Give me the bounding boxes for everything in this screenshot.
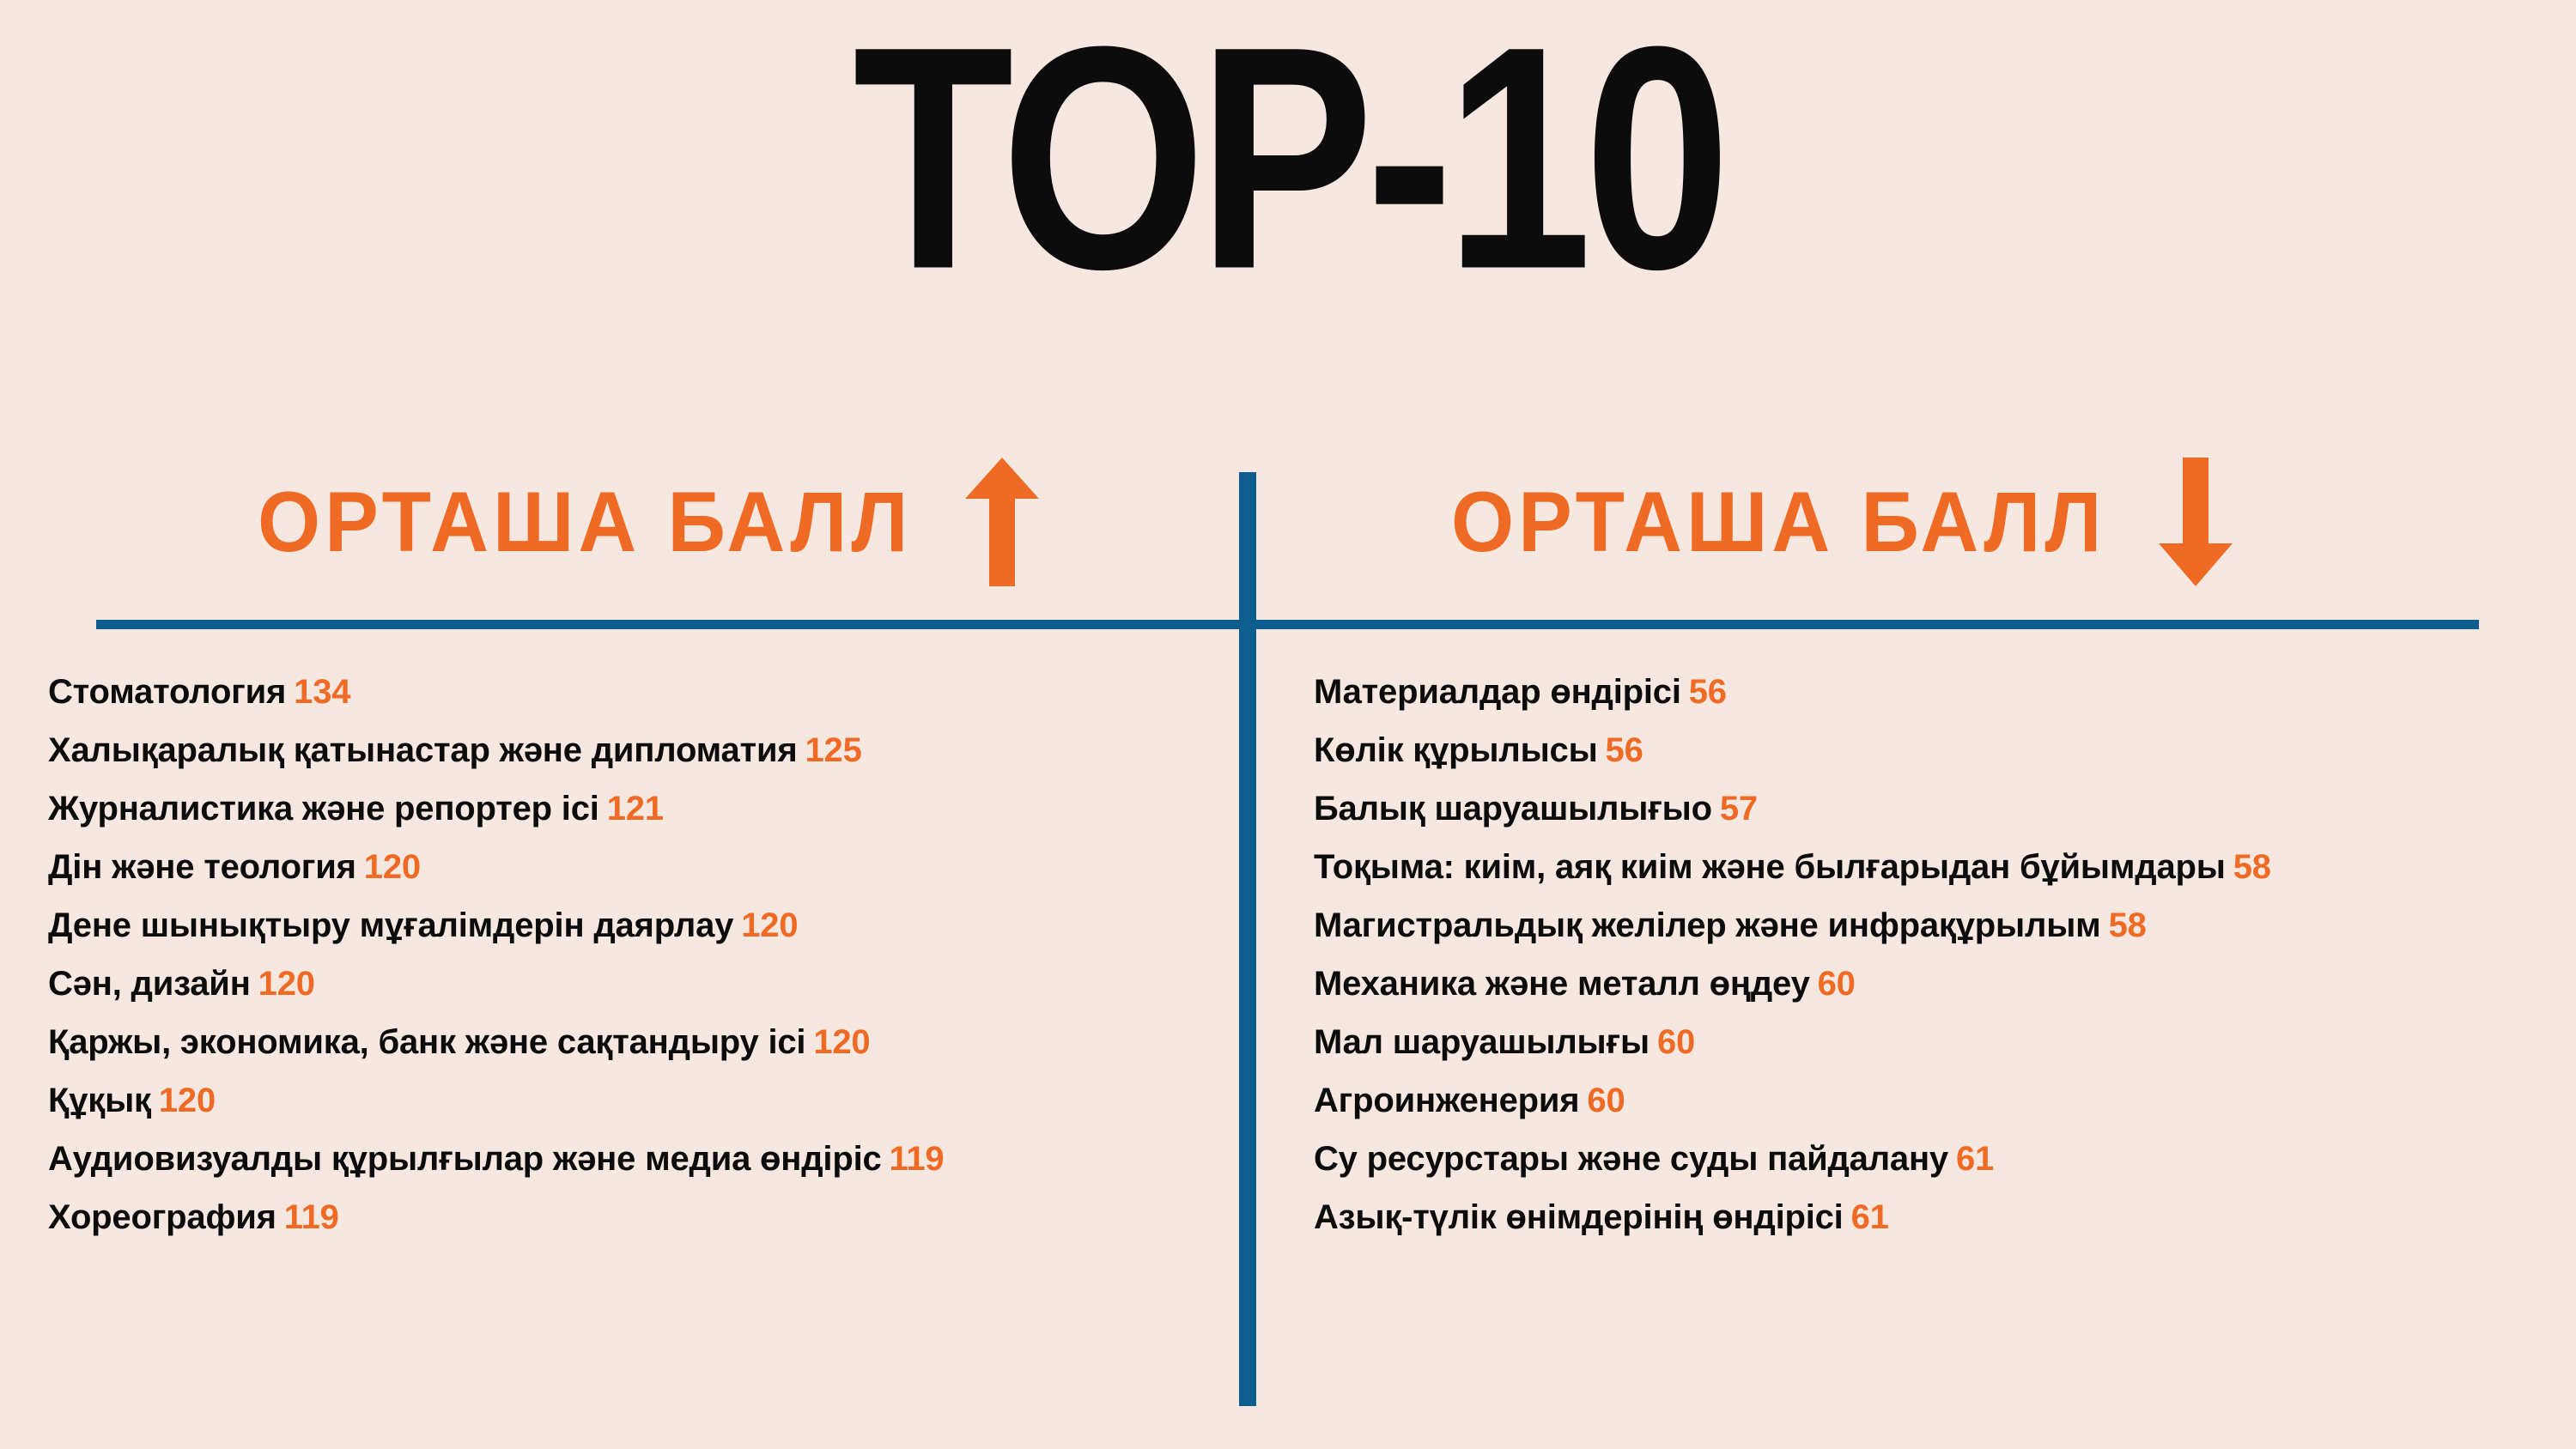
list-item-score: 120: [364, 848, 421, 886]
arrow-up-head: [965, 458, 1039, 499]
list-item-label: Құқық: [48, 1082, 151, 1119]
list-item-score: 121: [607, 790, 664, 828]
list-item-score: 60: [1587, 1082, 1625, 1119]
arrow-down-shaft: [2183, 458, 2208, 549]
arrow-up-icon: [965, 458, 1039, 586]
list-item-label: Мал шаруашылығы: [1314, 1023, 1649, 1061]
list-item-score: 119: [890, 1140, 945, 1178]
arrow-up-shaft: [989, 495, 1015, 586]
list-item-label: Қаржы, экономика, банк және сақтандыру і…: [48, 1023, 805, 1061]
list-item: Дін және теология120: [48, 838, 1224, 896]
column-header-right: ОРТАША БАЛЛ: [1451, 453, 2233, 591]
list-item: Сән, дизайн120: [48, 955, 1224, 1013]
list-item-score: 120: [813, 1023, 870, 1061]
list-item-score: 120: [159, 1082, 216, 1119]
list-item-score: 120: [741, 906, 798, 944]
list-item-label: Дене шынықтыру мұғалімдерін даярлау: [48, 906, 733, 944]
list-item-label: Механика және металл өңдеу: [1314, 965, 1810, 1003]
list-item-label: Стоматология: [48, 673, 286, 711]
page-title-container: TOP-10: [0, 7, 2576, 276]
list-item-label: Тоқыма: киім, аяқ киім және былғарыдан б…: [1314, 848, 2226, 886]
list-item-score: 125: [805, 731, 861, 769]
list-item: Халықаралық қатынастар және дипломатия12…: [48, 721, 1224, 779]
list-item-label: Көлік құрылысы: [1314, 731, 1598, 769]
list-item: Механика және металл өңдеу60: [1314, 955, 2559, 1013]
list-item-label: Азық-түлік өнімдерінің өндірісі: [1314, 1198, 1844, 1236]
list-item: Құқық120: [48, 1071, 1224, 1130]
list-item-label: Сән, дизайн: [48, 965, 251, 1003]
list-item-label: Агроинженерия: [1314, 1082, 1579, 1119]
list-item: Қаржы, экономика, банк және сақтандыру і…: [48, 1013, 1224, 1071]
arrow-down-icon: [2159, 458, 2233, 586]
list-item-label: Материалдар өндірісі: [1314, 673, 1681, 711]
column-header-right-label: ОРТАША БАЛЛ: [1451, 473, 2105, 571]
list-item: Хореография119: [48, 1188, 1224, 1246]
list-right: Материалдар өндірісі56 Көлік құрылысы56 …: [1314, 663, 2559, 1246]
list-item-label: Халықаралық қатынастар және дипломатия: [48, 731, 797, 769]
list-item-label: Балық шаруашылығыо: [1314, 790, 1712, 828]
list-item: Аудиовизуалды құрылғылар және медиа өнді…: [48, 1130, 1224, 1188]
list-item: Стоматология134: [48, 663, 1224, 721]
list-item: Су ресурстары және суды пайдалану61: [1314, 1130, 2559, 1188]
list-item-score: 120: [258, 965, 315, 1003]
list-item-score: 119: [284, 1198, 339, 1236]
list-item-score: 57: [1720, 790, 1758, 828]
list-item-score: 60: [1818, 965, 1856, 1003]
list-item-label: Хореография: [48, 1198, 276, 1236]
list-item-score: 58: [2233, 848, 2271, 886]
list-item: Агроинженерия60: [1314, 1071, 2559, 1130]
list-item-label: Аудиовизуалды құрылғылар және медиа өнді…: [48, 1140, 882, 1178]
list-item-label: Дін және теология: [48, 848, 356, 886]
list-item-score: 61: [1956, 1140, 1994, 1178]
list-item-score: 61: [1851, 1198, 1889, 1236]
list-item: Дене шынықтыру мұғалімдерін даярлау120: [48, 896, 1224, 955]
list-item-score: 56: [1606, 731, 1643, 769]
list-left: Стоматология134 Халықаралық қатынастар ж…: [48, 663, 1224, 1246]
list-item: Магистральдық желілер және инфрақұрылым5…: [1314, 896, 2559, 955]
list-item: Балық шаруашылығыо57: [1314, 779, 2559, 838]
list-item-score: 60: [1657, 1023, 1695, 1061]
column-header-left-label: ОРТАША БАЛЛ: [258, 473, 912, 571]
column-header-left: ОРТАША БАЛЛ: [258, 453, 1039, 591]
list-item: Материалдар өндірісі56: [1314, 663, 2559, 721]
list-item: Журналистика және репортер ісі121: [48, 779, 1224, 838]
list-item: Көлік құрылысы56: [1314, 721, 2559, 779]
arrow-down-head: [2159, 543, 2233, 586]
list-item: Тоқыма: киім, аяқ киім және былғарыдан б…: [1314, 838, 2559, 896]
list-item: Мал шаруашылығы60: [1314, 1013, 2559, 1071]
list-item: Азық-түлік өнімдерінің өндірісі61: [1314, 1188, 2559, 1246]
list-item-label: Су ресурстары және суды пайдалану: [1314, 1140, 1948, 1178]
list-item-score: 58: [2109, 906, 2147, 944]
horizontal-divider: [96, 620, 2479, 629]
list-item-label: Магистральдық желілер және инфрақұрылым: [1314, 906, 2101, 944]
list-item-label: Журналистика және репортер ісі: [48, 790, 599, 828]
vertical-divider: [1239, 472, 1256, 1406]
list-item-score: 134: [294, 673, 350, 711]
page-title: TOP-10: [853, 7, 1722, 308]
list-item-score: 56: [1689, 673, 1727, 711]
column-headers: ОРТАША БАЛЛ ОРТАША БАЛЛ: [0, 453, 2576, 608]
